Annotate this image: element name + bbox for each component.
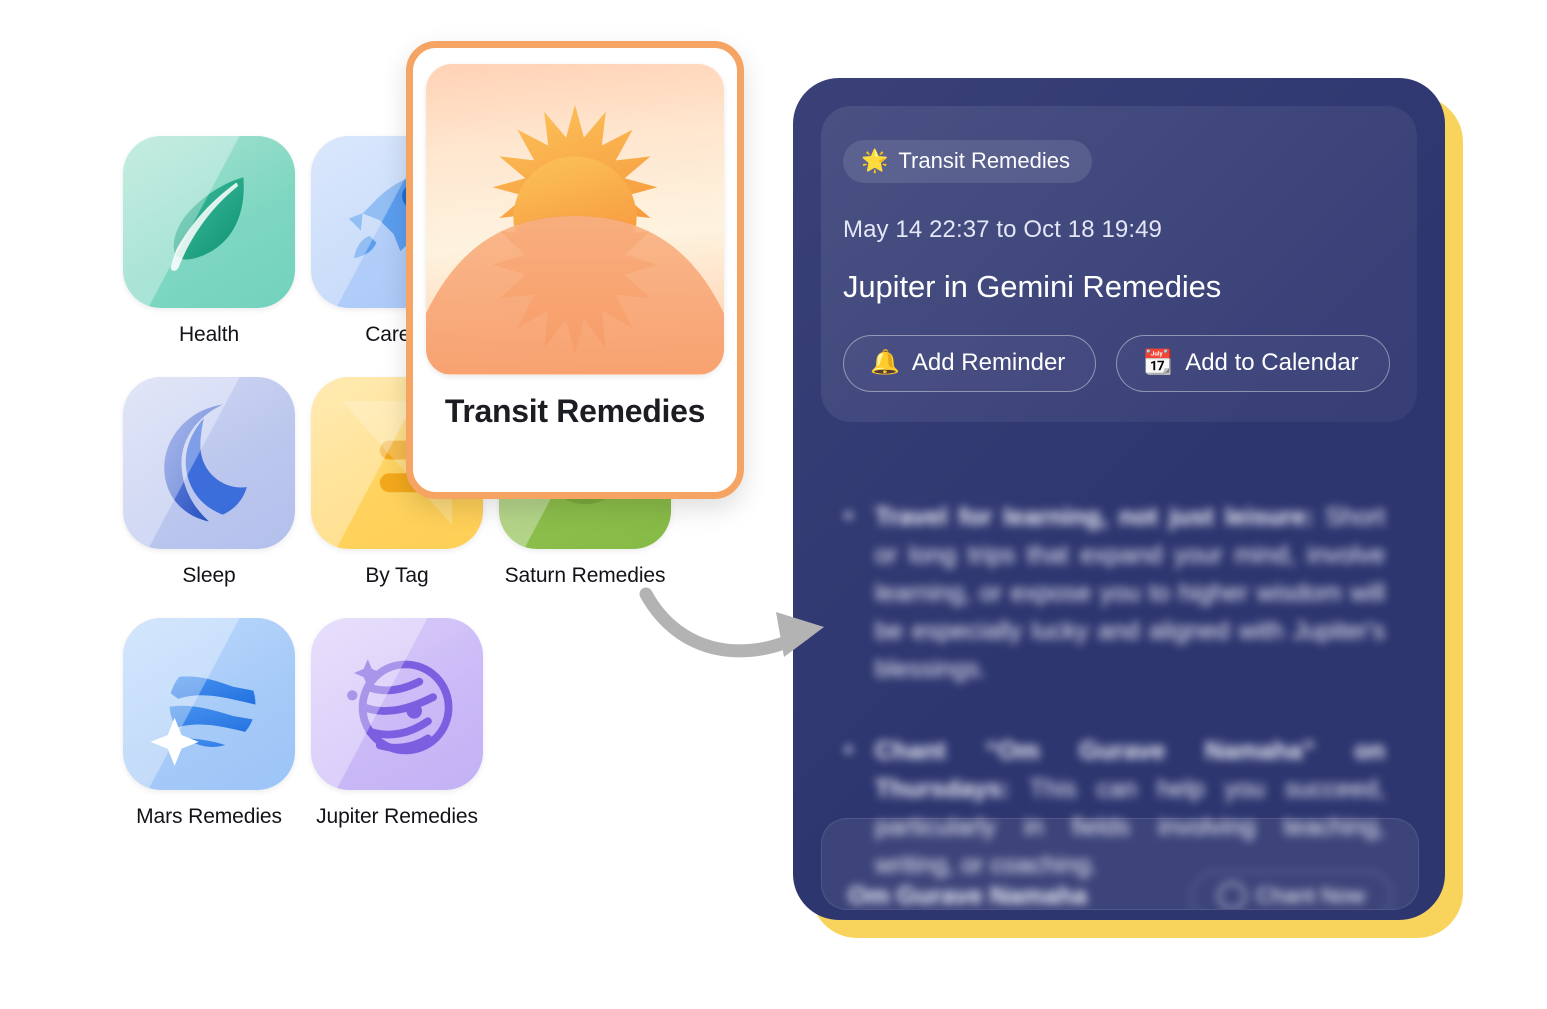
mantra-card[interactable]: Om Gurave Namaha Chant Now xyxy=(821,818,1419,910)
chant-now-label: Chant Now xyxy=(1256,883,1365,909)
grid-item-health[interactable]: Health xyxy=(115,136,303,377)
sleep-tile[interactable] xyxy=(123,377,295,549)
health-tile[interactable] xyxy=(123,136,295,308)
list-item: Travel for learning, not just leisure: S… xyxy=(837,498,1385,688)
calendar-icon: 📆 xyxy=(1143,351,1173,375)
panel-body-card: Travel for learning, not just leisure: S… xyxy=(793,482,1445,920)
highlighted-transit-remedies-card[interactable]: Transit Remedies xyxy=(406,41,744,499)
panel-body: 🌟 Transit Remedies May 14 22:37 to Oct 1… xyxy=(793,78,1445,920)
transit-date-range: May 14 22:37 to Oct 18 19:49 xyxy=(843,216,1417,244)
app-label: Health xyxy=(179,323,239,347)
panel-action-row: 🔔 Add Reminder 📆 Add to Calendar xyxy=(843,335,1417,392)
mantra-row: Om Gurave Namaha Chant Now xyxy=(848,871,1392,910)
mars-planet-icon xyxy=(123,618,295,790)
curved-arrow-right-icon xyxy=(636,572,856,682)
mars-remedies-tile[interactable] xyxy=(123,618,295,790)
app-label: By Tag xyxy=(365,564,428,588)
app-label: Sleep xyxy=(182,564,235,588)
add-to-calendar-button[interactable]: 📆 Add to Calendar xyxy=(1116,335,1389,392)
mantra-name: Om Gurave Namaha xyxy=(848,882,1087,911)
transit-detail-panel: 🌟 Transit Remedies May 14 22:37 to Oct 1… xyxy=(793,78,1463,938)
bell-icon: 🔔 xyxy=(870,351,900,375)
chant-now-button[interactable]: Chant Now xyxy=(1191,871,1392,910)
app-label: Jupiter Remedies xyxy=(316,805,478,829)
sunrise-icon xyxy=(426,64,724,375)
moon-icon xyxy=(123,377,295,549)
transit-remedies-icon-large[interactable] xyxy=(426,64,724,375)
grid-item-mars-remedies[interactable]: Mars Remedies xyxy=(115,618,303,859)
bullet-lead: Travel for learning, not just leisure: xyxy=(875,503,1314,531)
grid-item-sleep[interactable]: Sleep xyxy=(115,377,303,618)
add-to-calendar-label: Add to Calendar xyxy=(1185,349,1358,377)
glowing-star-icon: 🌟 xyxy=(861,150,888,172)
highlight-card-label: Transit Remedies xyxy=(445,393,705,430)
transit-remedies-chip[interactable]: 🌟 Transit Remedies xyxy=(843,140,1092,183)
add-reminder-button[interactable]: 🔔 Add Reminder xyxy=(843,335,1096,392)
remedy-title: Jupiter in Gemini Remedies xyxy=(843,269,1417,305)
play-circle-icon xyxy=(1218,882,1246,910)
jupiter-remedies-tile[interactable] xyxy=(311,618,483,790)
panel-header-card: 🌟 Transit Remedies May 14 22:37 to Oct 1… xyxy=(821,106,1417,422)
chip-label: Transit Remedies xyxy=(898,148,1070,174)
add-reminder-label: Add Reminder xyxy=(912,349,1065,377)
app-label: Mars Remedies xyxy=(136,805,282,829)
grid-item-jupiter-remedies[interactable]: Jupiter Remedies xyxy=(303,618,491,859)
jupiter-planet-icon xyxy=(311,618,483,790)
leaf-icon xyxy=(123,136,295,308)
